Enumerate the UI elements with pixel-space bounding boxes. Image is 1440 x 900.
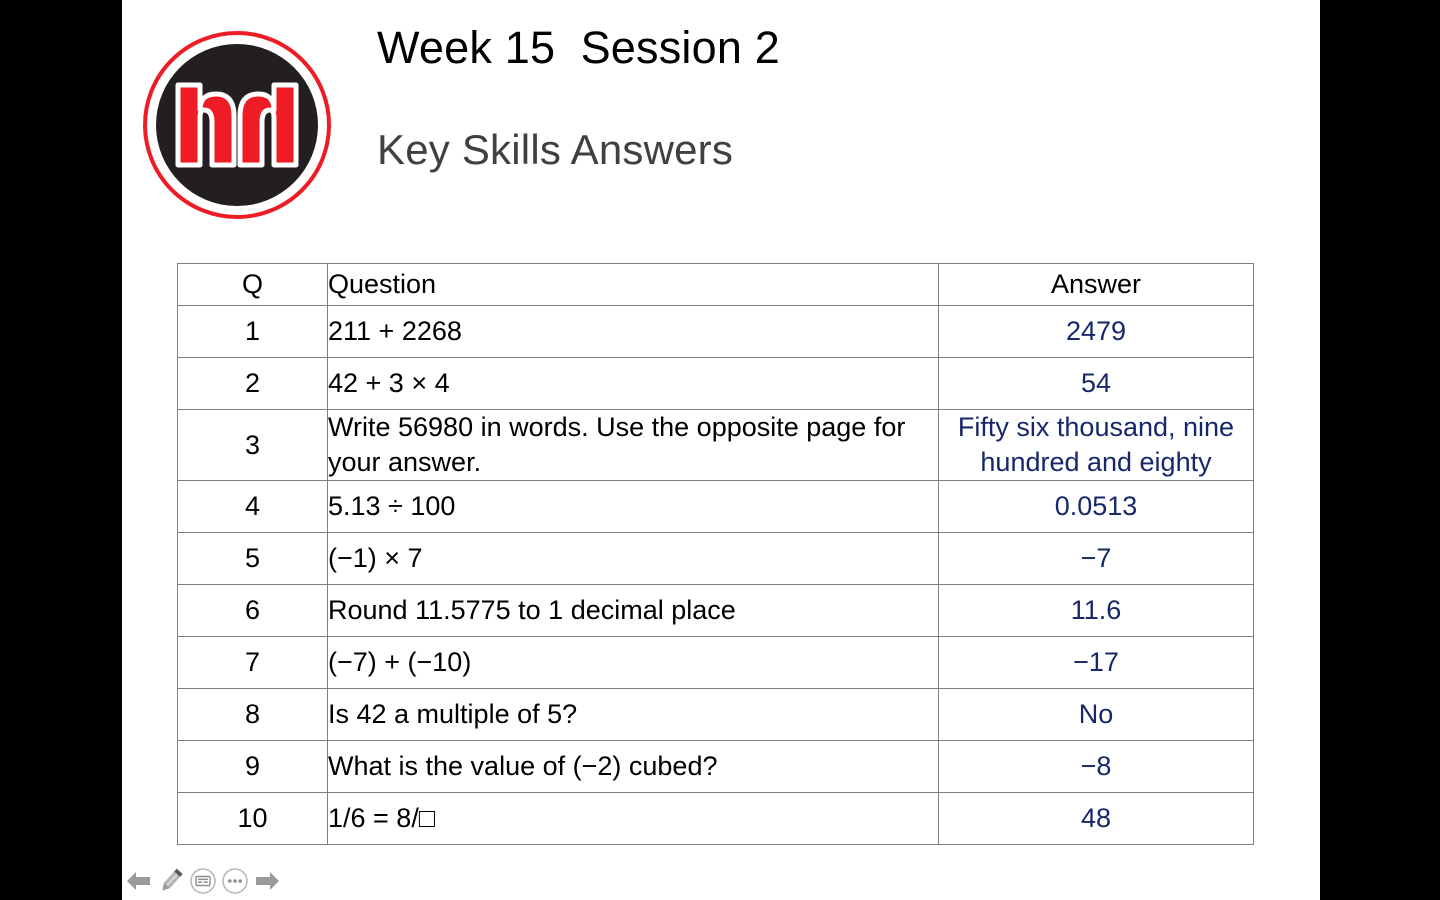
cell-answer-text: −8 [939, 741, 1254, 793]
table-row: 3 Write 56980 in words. Use the opposite… [178, 410, 1254, 481]
cell-question-number: 10 [178, 793, 328, 845]
notes-icon[interactable] [188, 866, 218, 896]
cell-question-text: Write 56980 in words. Use the opposite p… [328, 410, 939, 481]
cell-question-text: What is the value of (−2) cubed? [328, 741, 939, 793]
cell-question-number: 9 [178, 741, 328, 793]
table-row: 6 Round 11.5775 to 1 decimal place 11.6 [178, 585, 1254, 637]
cell-answer-text: −7 [939, 533, 1254, 585]
cell-question-number: 6 [178, 585, 328, 637]
cell-question-text: 42 + 3 × 4 [328, 358, 939, 410]
slide-canvas: Week 15 Session 2 Key Skills Answers Q Q… [122, 0, 1320, 900]
cell-question-number: 1 [178, 306, 328, 358]
presentation-stage: Week 15 Session 2 Key Skills Answers Q Q… [0, 0, 1440, 900]
page-title: Week 15 Session 2 [377, 22, 1277, 74]
page-subtitle: Key Skills Answers [377, 126, 1277, 174]
nn-monogram-logo-icon [142, 30, 332, 220]
cell-answer-text: 0.0513 [939, 481, 1254, 533]
table-row: 4 5.13 ÷ 100 0.0513 [178, 481, 1254, 533]
column-header-q: Q [178, 264, 328, 306]
cell-question-text: (−1) × 7 [328, 533, 939, 585]
table-row: 8 Is 42 a multiple of 5? No [178, 689, 1254, 741]
cell-answer-text: 48 [939, 793, 1254, 845]
cell-question-number: 4 [178, 481, 328, 533]
table-row: 7 (−7) + (−10) −17 [178, 637, 1254, 689]
slide-heading-block: Week 15 Session 2 Key Skills Answers [377, 22, 1277, 174]
cell-answer-text: No [939, 689, 1254, 741]
cell-answer-text: 54 [939, 358, 1254, 410]
table-header-row: Q Question Answer [178, 264, 1254, 306]
cell-question-text: 5.13 ÷ 100 [328, 481, 939, 533]
cell-question-number: 2 [178, 358, 328, 410]
arrow-left-icon[interactable] [124, 866, 154, 896]
cell-answer-text: 2479 [939, 306, 1254, 358]
cell-question-text: Is 42 a multiple of 5? [328, 689, 939, 741]
column-header-answer: Answer [939, 264, 1254, 306]
more-options-icon[interactable] [220, 866, 250, 896]
presenter-toolbar [122, 864, 282, 898]
table-row: 1 211 + 2268 2479 [178, 306, 1254, 358]
cell-question-text: 211 + 2268 [328, 306, 939, 358]
cell-answer-text: 11.6 [939, 585, 1254, 637]
cell-question-text: 1/6 = 8/□ [328, 793, 939, 845]
column-header-question: Question [328, 264, 939, 306]
arrow-right-icon[interactable] [252, 866, 282, 896]
cell-question-number: 5 [178, 533, 328, 585]
cell-answer-text: −17 [939, 637, 1254, 689]
table-row: 10 1/6 = 8/□ 48 [178, 793, 1254, 845]
pencil-icon[interactable] [156, 866, 186, 896]
cell-answer-text: Fifty six thousand, nine hundred and eig… [939, 410, 1254, 481]
table-row: 5 (−1) × 7 −7 [178, 533, 1254, 585]
cell-question-number: 8 [178, 689, 328, 741]
table-row: 2 42 + 3 × 4 54 [178, 358, 1254, 410]
table-row: 9 What is the value of (−2) cubed? −8 [178, 741, 1254, 793]
cell-question-number: 7 [178, 637, 328, 689]
cell-question-text: Round 11.5775 to 1 decimal place [328, 585, 939, 637]
key-skills-answers-table: Q Question Answer 1 211 + 2268 2479 2 42… [177, 263, 1254, 845]
cell-question-number: 3 [178, 410, 328, 481]
cell-question-text: (−7) + (−10) [328, 637, 939, 689]
